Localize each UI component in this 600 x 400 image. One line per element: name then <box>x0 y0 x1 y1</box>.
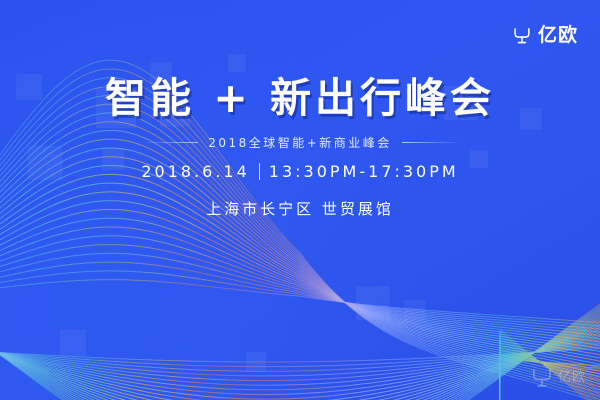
event-date: 2018.6.14 <box>141 162 249 181</box>
yiou-logo[interactable]: 亿欧 <box>511 24 578 46</box>
page-title: 智能 + 新出行峰会 <box>0 78 600 119</box>
event-poster: 亿欧 智能 + 新出行峰会 2018全球智能+新商业峰会 2018.6.14 1… <box>0 0 600 400</box>
rule-right <box>402 142 460 143</box>
logo-text: 亿欧 <box>538 26 578 45</box>
event-venue: 上海市长宁区 世贸展馆 <box>0 198 600 219</box>
watermark-text: 亿欧 <box>558 371 586 384</box>
wave-line <box>0 262 600 333</box>
subtitle: 2018全球智能+新商业峰会 <box>208 134 392 151</box>
rule-left <box>140 142 198 143</box>
datetime-divider <box>259 163 260 180</box>
event-time: 13:30PM-17:30PM <box>269 162 459 181</box>
event-datetime: 2018.6.14 13:30PM-17:30PM <box>0 162 600 181</box>
yiou-watermark: 亿欧 <box>529 364 586 390</box>
subtitle-row: 2018全球智能+新商业峰会 <box>0 134 600 151</box>
poster-content: 智能 + 新出行峰会 2018全球智能+新商业峰会 2018.6.14 13:3… <box>0 78 600 219</box>
y-antenna-icon <box>529 364 555 390</box>
y-antenna-icon <box>511 24 533 46</box>
wave-line <box>0 201 600 358</box>
